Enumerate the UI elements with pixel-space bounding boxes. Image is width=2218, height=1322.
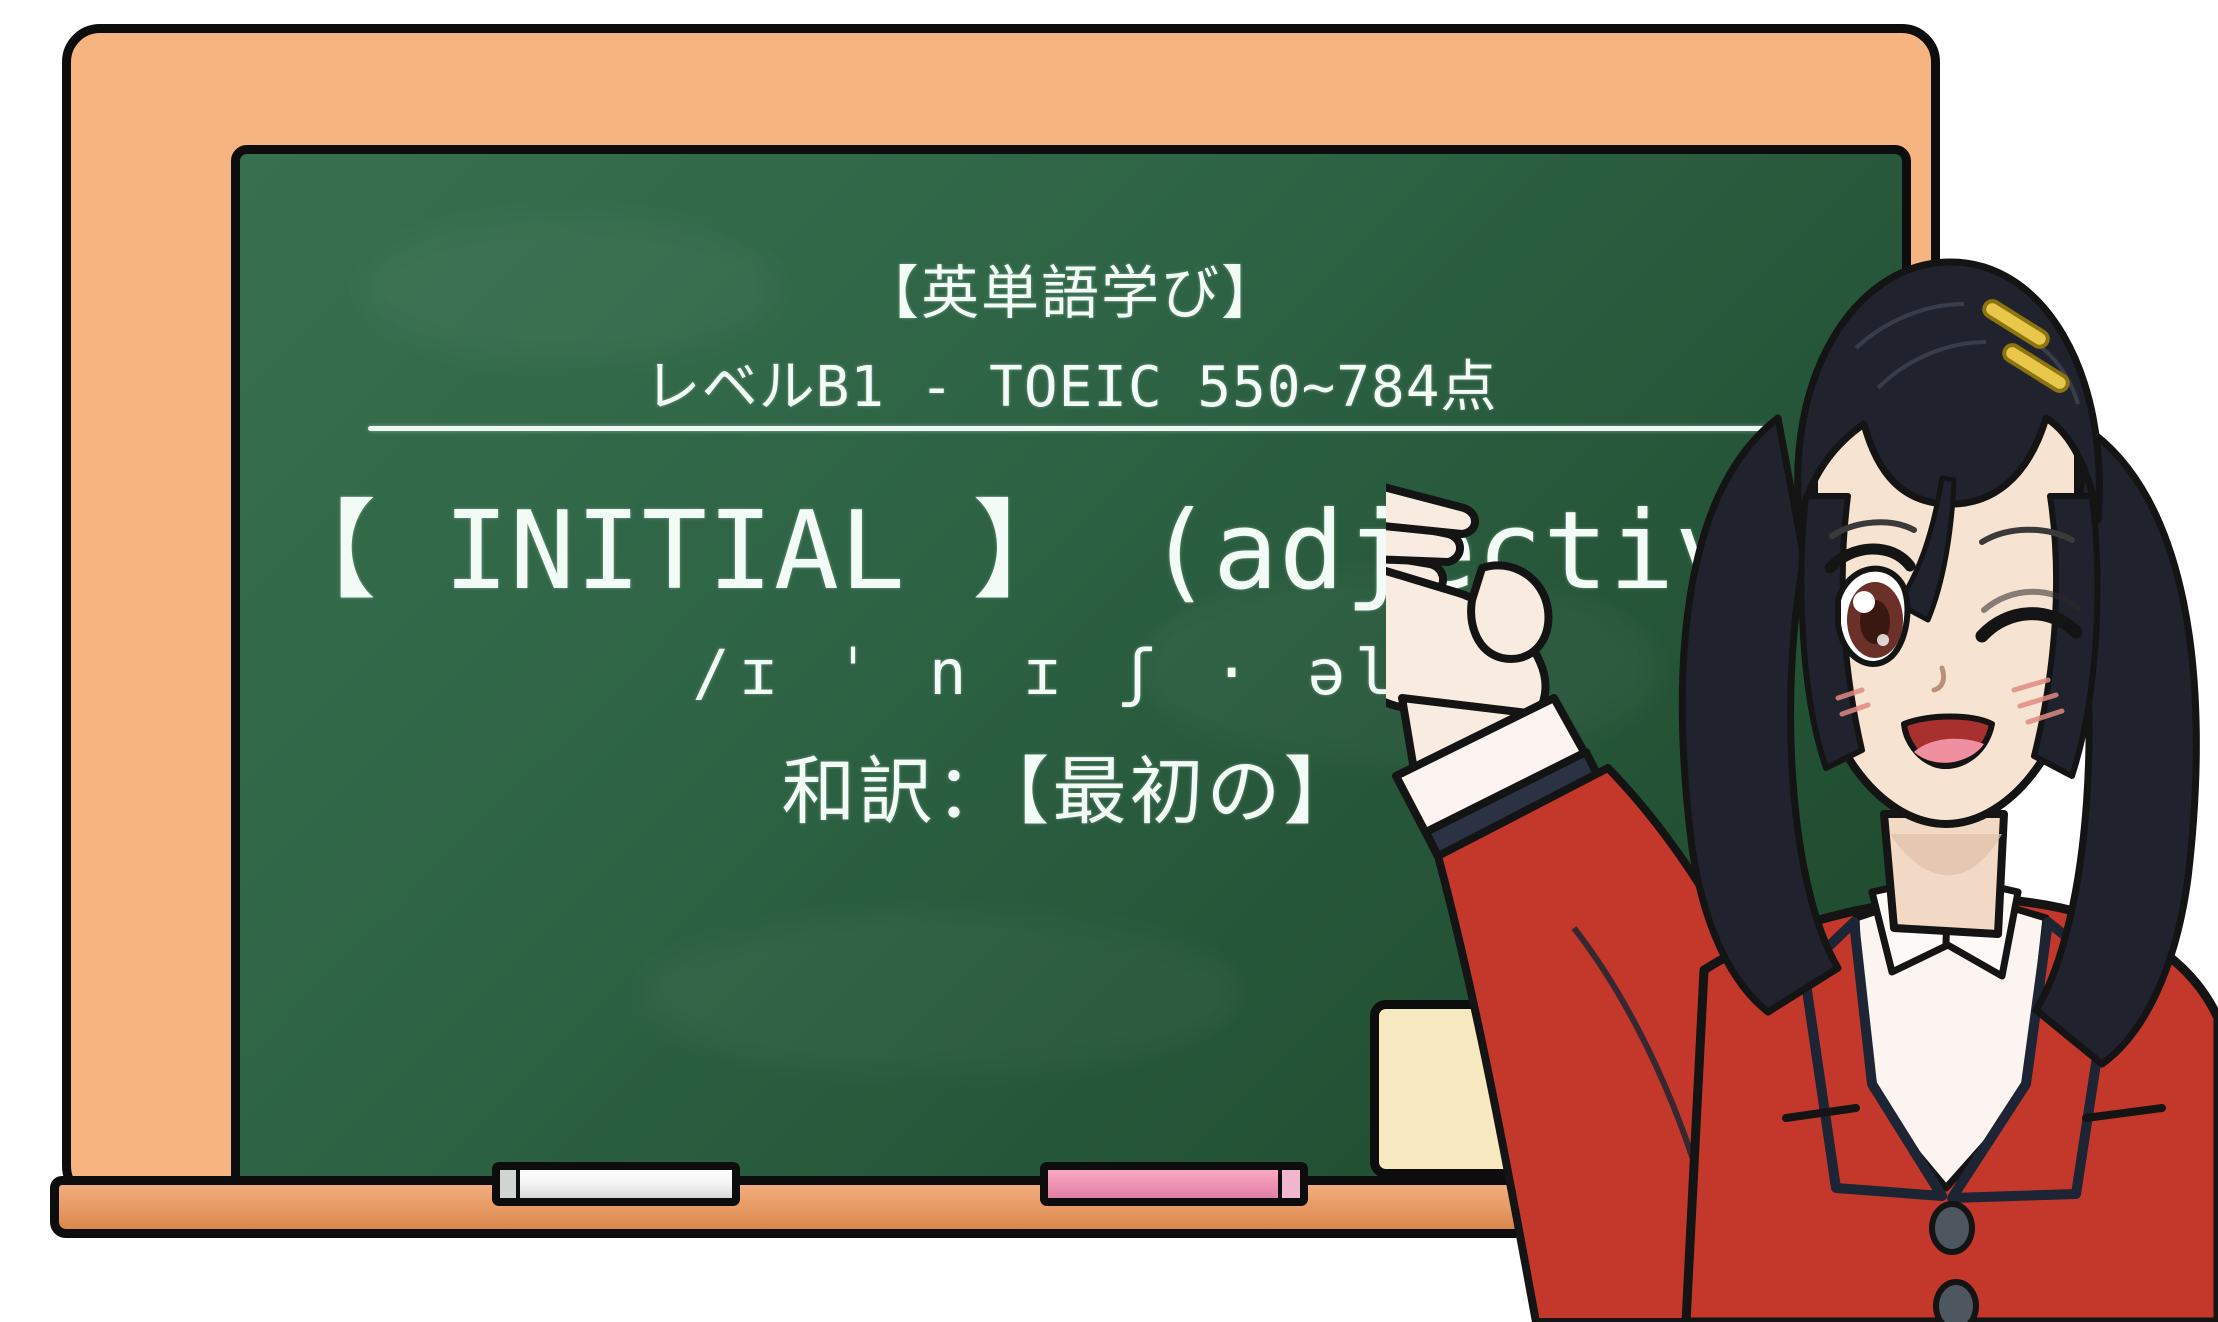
chalk-tray-ledge <box>50 1176 1954 1238</box>
pocket-flap-right <box>2086 1108 2162 1118</box>
flashcard-canvas: 【英単語学び】 レベルB1 - TOEIC 550~784点 【 INITIAL… <box>0 0 2218 1322</box>
chalk-smudge <box>640 914 1240 1074</box>
chalk-stick-white <box>492 1162 740 1206</box>
board-title: 【英単語学び】 <box>240 246 1902 330</box>
chalk-stick-pink <box>1040 1162 1308 1206</box>
blush-right <box>2014 680 2062 722</box>
divider-rule <box>368 426 1774 431</box>
blackboard-eraser <box>1370 1000 1720 1178</box>
level-line: レベルB1 - TOEIC 550~784点 <box>240 342 1902 423</box>
hairpin-icon <box>1981 298 2071 394</box>
bang-right <box>2034 496 2098 776</box>
blazer-button <box>1936 1282 1976 1322</box>
hair-tail-right <box>2036 428 2196 1064</box>
japanese-translation: 和訳：【最初の】 <box>240 732 1902 839</box>
eraser-band <box>1518 1009 1584 1169</box>
blazer-lapel-right <box>1952 922 2110 1198</box>
eyebrow-right <box>1982 530 2072 542</box>
vocab-word: 【 INITIAL 】 (adjective) <box>240 464 1902 620</box>
shirt-collar-right <box>1946 876 2018 976</box>
pronunciation-ipa: /ɪ ˈ n ɪ ʃ · əl/ <box>240 636 1902 709</box>
eye-wink <box>1982 592 2078 636</box>
